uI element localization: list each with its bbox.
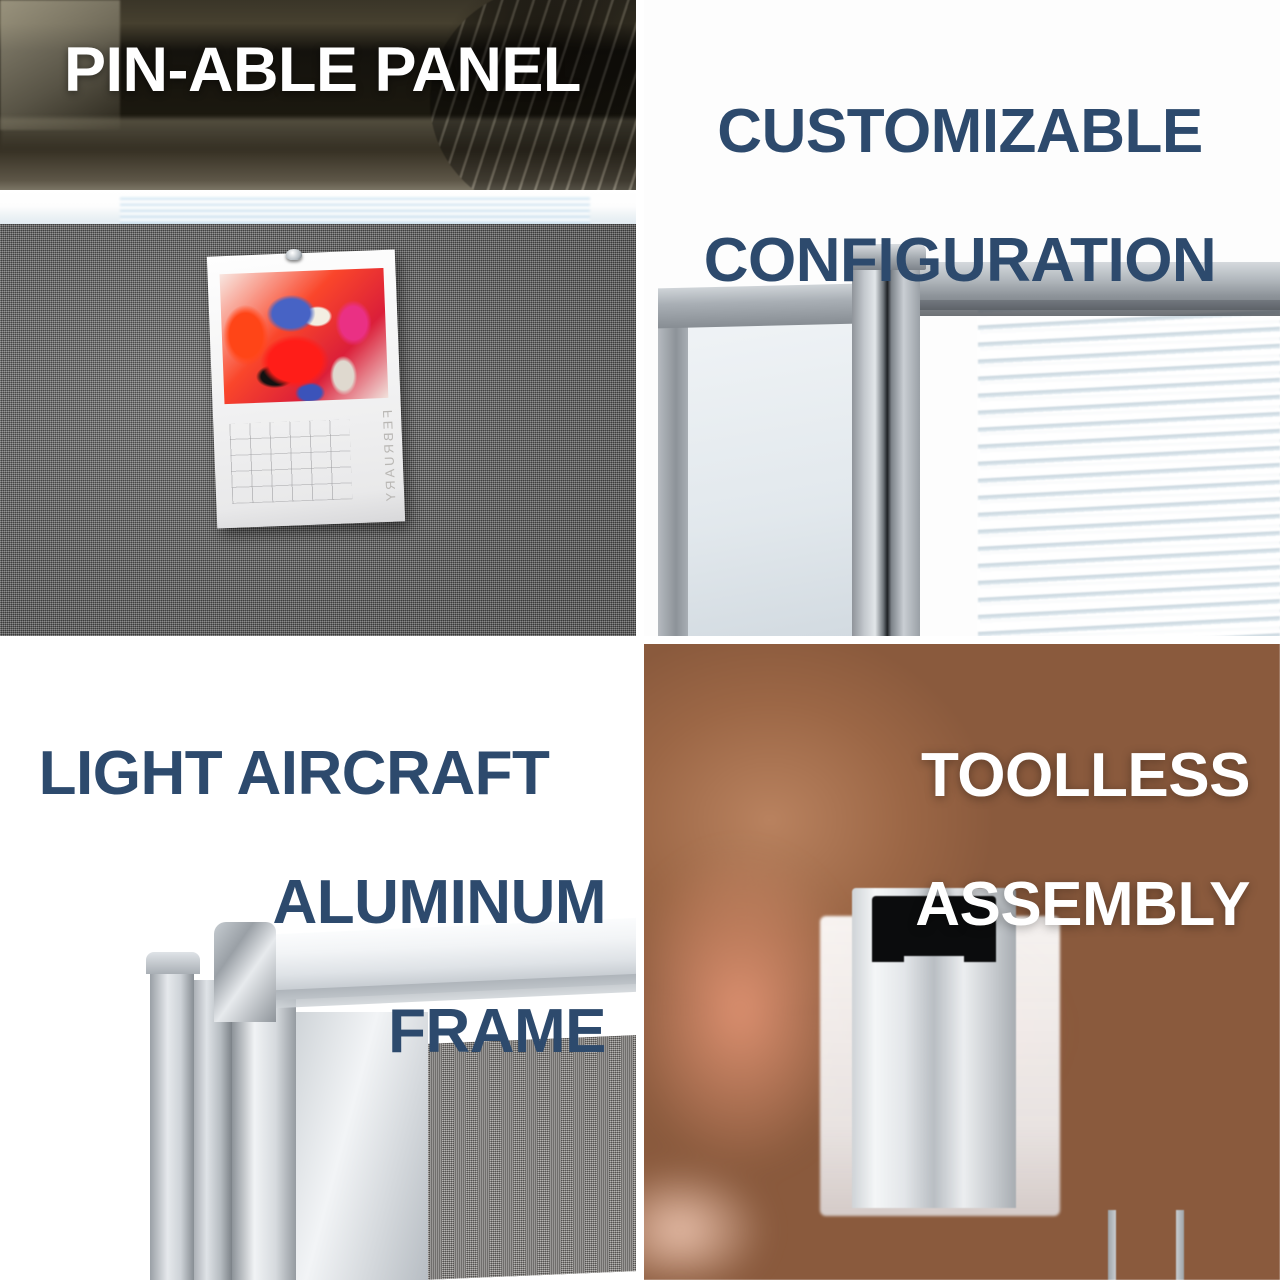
headline-pin-able-panel: PIN-ABLE PANEL [64, 38, 581, 104]
headline-line-2: ASSEMBLY [640, 873, 1250, 937]
headline-customizable-configuration: CUSTOMIZABLE CONFIGURATION [640, 36, 1280, 358]
divider-horizontal [0, 636, 1280, 644]
feature-grid: FEBRUARY PIN-ABLE PANEL CUSTOMIZABLE CON… [0, 0, 1280, 1280]
headline-light-aircraft-aluminum-frame: LIGHT AIRCRAFT ALUMINUM FRAME [0, 678, 640, 1129]
panel-pin-able-panel: FEBRUARY PIN-ABLE PANEL [0, 0, 640, 640]
calendar-date-grid [229, 419, 352, 504]
headline-line-1: CUSTOMIZABLE [648, 100, 1272, 164]
panel-customizable-configuration: CUSTOMIZABLE CONFIGURATION [640, 0, 1280, 640]
panel-light-aircraft-aluminum-frame: LIGHT AIRCRAFT ALUMINUM FRAME [0, 640, 640, 1280]
calendar-month-label: FEBRUARY [380, 410, 399, 505]
spiral-duct [430, 0, 640, 216]
panel-toolless-assembly: TOOLLESS ASSEMBLY [640, 640, 1280, 1280]
extrusion-web-left [1108, 1210, 1116, 1280]
headline-toolless-assembly: TOOLLESS ASSEMBLY [640, 680, 1280, 1002]
pinned-calendar: FEBRUARY [207, 249, 405, 528]
headline-line-1: LIGHT AIRCRAFT [0, 742, 606, 806]
headline-line-1: TOOLLESS [640, 744, 1250, 808]
headline-line-3: FRAME [0, 1000, 606, 1064]
rail-light-reflection [120, 196, 590, 224]
extrusion-web-right [1176, 1210, 1184, 1280]
headline-line-2: ALUMINUM [0, 871, 606, 935]
headline-line-2: CONFIGURATION [648, 229, 1272, 293]
push-pin-icon [286, 249, 302, 260]
calendar-artwork [220, 268, 389, 404]
